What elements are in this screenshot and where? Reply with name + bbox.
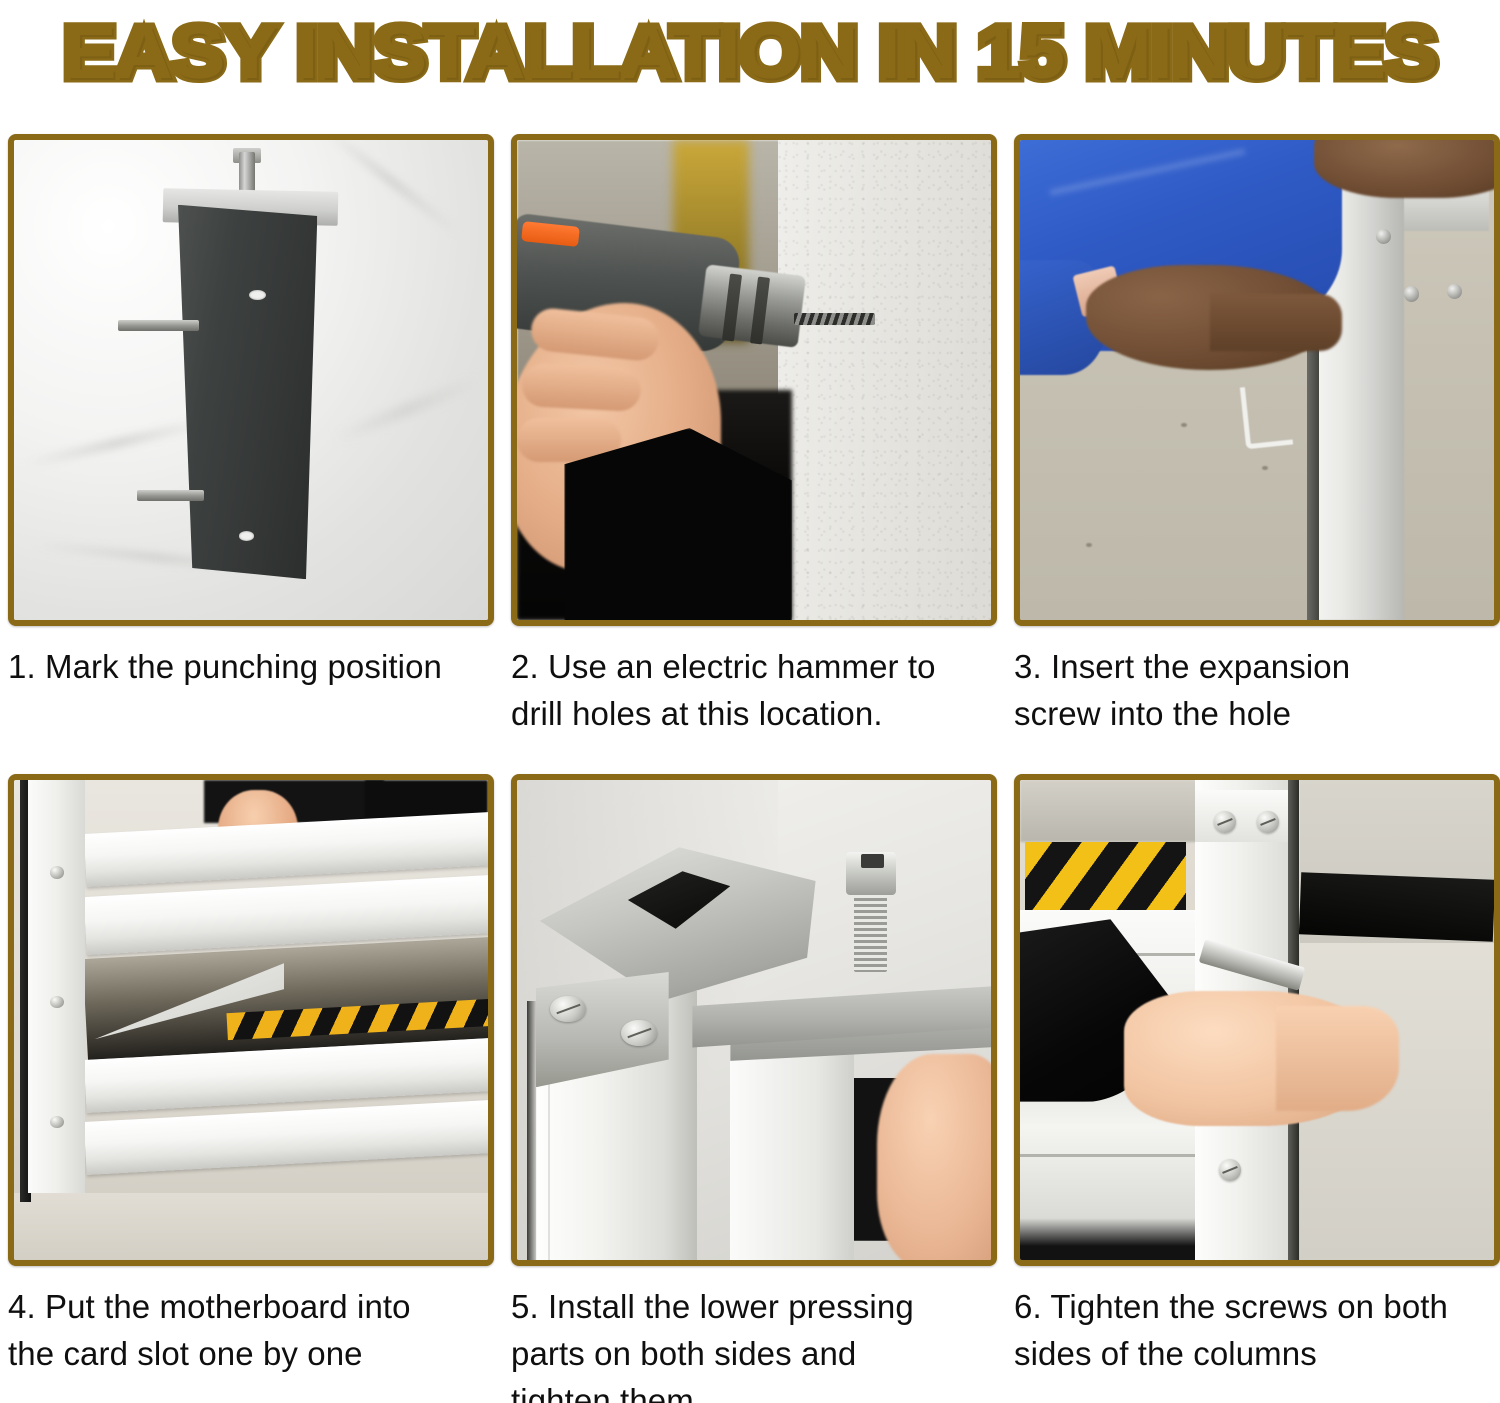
step-4-photo-frame <box>8 774 494 1266</box>
step-3-image-cell <box>1014 134 1500 634</box>
step-4-image-cell <box>8 774 494 1274</box>
photo-lower-pressing-parts <box>517 780 991 1260</box>
step-5-caption: 5. Install the lower pressing parts on b… <box>511 1274 997 1403</box>
step-1-caption: 1. Mark the punching position <box>8 634 494 691</box>
step-5-image-cell <box>511 774 997 1274</box>
step-1-photo-frame <box>8 134 494 626</box>
step-6-caption: 6. Tighten the screws on both sides of t… <box>1014 1274 1500 1378</box>
photo-mark-punching-position <box>14 140 488 620</box>
step-2-photo-frame <box>511 134 997 626</box>
step-2-caption: 2. Use an electric hammer to drill holes… <box>511 634 997 738</box>
step-3-caption: 3. Insert the expansion screw into the h… <box>1014 634 1500 738</box>
installation-guide-page: EASY INSTALLATION IN 15 MINUTES <box>0 0 1500 1403</box>
step-5-caption-cell: 5. Install the lower pressing parts on b… <box>511 1274 997 1396</box>
step-1-image-cell <box>8 134 494 634</box>
step-3-caption-cell: 3. Insert the expansion screw into the h… <box>1014 634 1500 774</box>
step-5-photo-frame <box>511 774 997 1266</box>
photo-insert-boards <box>14 780 488 1260</box>
step-6-caption-cell: 6. Tighten the screws on both sides of t… <box>1014 1274 1500 1396</box>
header-banner: EASY INSTALLATION IN 15 MINUTES <box>0 0 1500 104</box>
step-4-caption-cell: 4. Put the motherboard into the card slo… <box>8 1274 494 1396</box>
step-3-photo-frame <box>1014 134 1500 626</box>
step-6-image-cell <box>1014 774 1500 1274</box>
step-1-caption-cell: 1. Mark the punching position <box>8 634 494 774</box>
step-2-image-cell <box>511 134 997 634</box>
photo-tighten-screws <box>1020 780 1494 1260</box>
step-6-photo-frame <box>1014 774 1500 1266</box>
page-title: EASY INSTALLATION IN 15 MINUTES <box>63 10 1437 95</box>
step-2-caption-cell: 2. Use an electric hammer to drill holes… <box>511 634 997 774</box>
photo-drill-holes <box>517 140 991 620</box>
step-4-caption: 4. Put the motherboard into the card slo… <box>8 1274 494 1378</box>
steps-grid: 1. Mark the punching position 2. Use an … <box>8 134 1492 1396</box>
photo-insert-expansion-screw <box>1020 140 1494 620</box>
